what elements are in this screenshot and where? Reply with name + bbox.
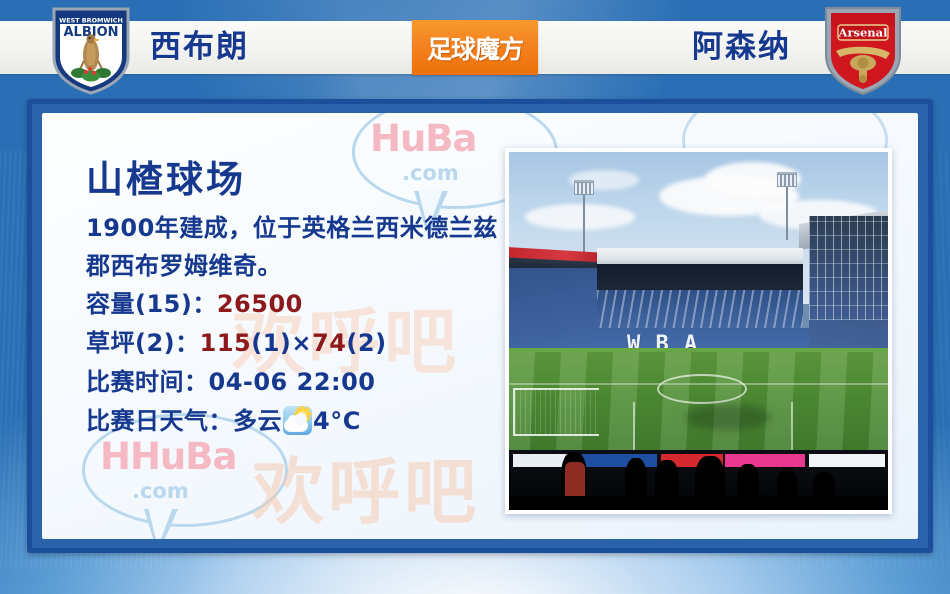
watermark-cn-char-1b: 欢 [252, 450, 328, 534]
watermark-domain: .com [132, 479, 189, 503]
watermark-cn-char-2b: 呼吧 [328, 450, 480, 534]
pitch-length-rank: (1) [251, 329, 291, 357]
weather-label: 比赛日天气： [86, 407, 233, 435]
site-logo[interactable]: 足球魔方 [412, 20, 538, 75]
capacity-value: 26500 [217, 290, 303, 318]
svg-text:Arsenal: Arsenal [838, 26, 889, 40]
watermark-bubble-text: HHuBa [100, 435, 236, 478]
stadium-info-block: 山楂球场 1900年建成，位于英格兰西米德兰兹郡西布罗姆维奇。 容量(15)：2… [86, 157, 506, 441]
photo-adboard-4 [725, 454, 805, 467]
pitch-size-row: 草坪(2)：115(1)×74(2) [86, 324, 506, 363]
stadium-photo-frame: W B A [505, 148, 892, 514]
match-time-label: 比赛时间： [86, 368, 209, 396]
floodlight-head-right [777, 172, 797, 187]
stadium-info-page: WEST BROMWICH ALBION [0, 0, 950, 594]
capacity-row: 容量(15)：26500 [86, 285, 506, 324]
photo-bottom-shade [509, 496, 888, 510]
photo-adboard-2 [579, 454, 657, 467]
stadium-description: 1900年建成，位于英格兰西米德兰兹郡西布罗姆维奇。 [86, 209, 506, 285]
weather-value: 多云 [233, 407, 282, 435]
pitch-width-rank: (2) [346, 329, 386, 357]
content-card: HuBa .com HHuBa .com 欢呼吧 欢呼吧 .com 山楂球场 1 [42, 113, 918, 539]
stadium-photo: W B A [509, 152, 888, 510]
photo-stand-right-frame [809, 216, 888, 320]
weather-row: 比赛日天气：多云 4°C [86, 402, 506, 441]
floodlight-mast-right [786, 178, 788, 240]
photo-goal [513, 388, 599, 436]
match-header: WEST BROMWICH ALBION [0, 0, 950, 95]
photo-center-circle [657, 374, 747, 404]
capacity-label: 容量(15)： [86, 290, 217, 318]
pitch-width-value: 74 [312, 329, 346, 357]
away-team-crest-icon: Arsenal [820, 3, 906, 95]
match-time-row: 比赛时间：04-06 22:00 [86, 363, 506, 402]
pitch-label: 草坪(2)： [86, 329, 200, 357]
photo-main-stand-shade [597, 264, 803, 292]
photo-adboard-5 [809, 454, 885, 467]
site-logo-text: 足球魔方 [412, 20, 538, 75]
photo-pitch-shadow [685, 404, 771, 430]
pitch-separator: × [291, 329, 312, 357]
match-time-value: 04-06 22:00 [209, 368, 376, 396]
home-team-name: 西布朗 [150, 24, 249, 70]
stadium-title: 山楂球场 [86, 157, 506, 203]
watermark-cn-bottom: 欢呼吧 [252, 433, 480, 538]
temperature-value: 4°C [313, 407, 361, 435]
floodlight-head-left [574, 180, 594, 195]
partly-cloudy-icon [283, 406, 312, 435]
floodlight-mast-left [583, 186, 585, 254]
svg-text:WEST BROMWICH: WEST BROMWICH [59, 17, 123, 25]
pitch-length-value: 115 [200, 329, 252, 357]
home-team-crest-icon: WEST BROMWICH ALBION [48, 3, 134, 95]
watermark-bubble-text-top: HuBa [370, 117, 476, 160]
away-team-name: 阿森纳 [692, 24, 791, 70]
content-panel-frame: HuBa .com HHuBa .com 欢呼吧 欢呼吧 .com 山楂球场 1 [27, 99, 933, 553]
photo-main-stand-seats [597, 290, 803, 332]
